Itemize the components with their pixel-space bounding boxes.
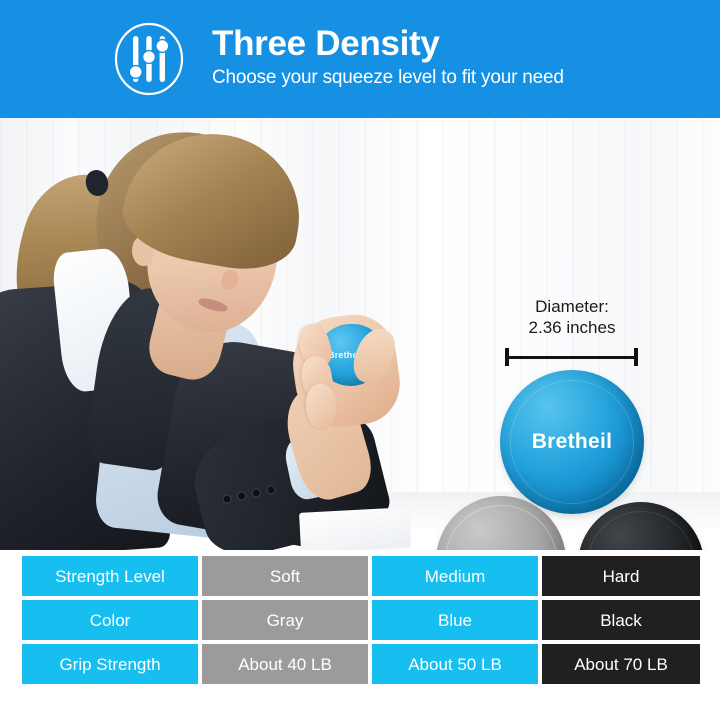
cell-medium-grip: About 50 LB [372, 644, 538, 684]
row-label-color: Color [22, 600, 198, 640]
measure-cap-right [634, 348, 638, 366]
header-banner: Three Density Choose your squeeze level … [0, 0, 720, 118]
diameter-label: Diameter: [494, 296, 650, 317]
diameter-value: 2.36 inches [494, 317, 650, 338]
cell-hard-strength: Hard [542, 556, 700, 596]
table-row: Color Gray Blue Black [22, 600, 700, 640]
model-figure: Bretheil [0, 118, 460, 550]
row-label-grip-strength: Grip Strength [22, 644, 198, 684]
cell-medium-strength: Medium [372, 556, 538, 596]
cell-hard-color: Black [542, 600, 700, 640]
cell-soft-strength: Soft [202, 556, 368, 596]
row-label-strength-level: Strength Level [22, 556, 198, 596]
desk-papers [299, 507, 411, 550]
header-text-block: Three Density Choose your squeeze level … [212, 26, 564, 92]
measure-line [505, 356, 638, 359]
product-ball-blue: Bretheil [500, 370, 644, 514]
measurement-rule [505, 348, 638, 366]
ball-brand-label: Bretheil [532, 430, 613, 454]
table-row: Grip Strength About 40 LB About 50 LB Ab… [22, 644, 700, 684]
product-photo: Bretheil Diameter: 2.36 inches Bretheil … [0, 118, 720, 550]
equalizer-sliders-icon [112, 22, 186, 96]
table-row: Strength Level Soft Medium Hard [22, 556, 700, 596]
cell-hard-grip: About 70 LB [542, 644, 700, 684]
cell-soft-color: Gray [202, 600, 368, 640]
cell-medium-color: Blue [372, 600, 538, 640]
diameter-callout: Diameter: 2.36 inches [494, 296, 650, 339]
page-title: Three Density [212, 26, 564, 62]
spec-table: Strength Level Soft Medium Hard Color Gr… [22, 556, 700, 684]
page-subtitle: Choose your squeeze level to fit your ne… [212, 66, 564, 91]
cell-soft-grip: About 40 LB [202, 644, 368, 684]
product-infographic: Three Density Choose your squeeze level … [0, 0, 720, 720]
